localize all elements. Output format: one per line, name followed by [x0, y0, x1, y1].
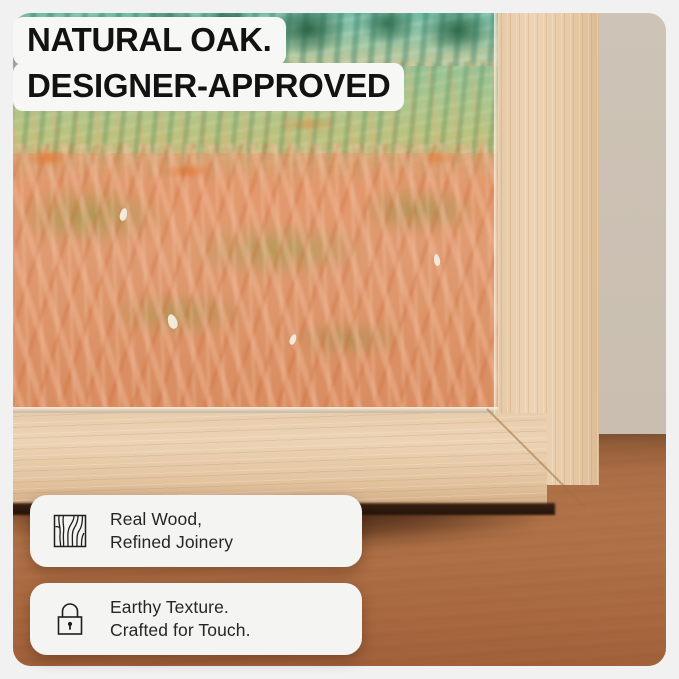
headline-line-2: DESIGNER-APPROVED — [13, 63, 404, 111]
feature-badge-earthy-texture-label: Earthy Texture. Crafted for Touch. — [110, 596, 251, 642]
wood-grain-icon — [48, 509, 92, 553]
product-hero-image: NATURAL OAK. DESIGNER-APPROVED Real Wood… — [0, 0, 679, 679]
lock-icon — [48, 597, 92, 641]
headline: NATURAL OAK. DESIGNER-APPROVED — [13, 17, 404, 111]
feature-badge-real-wood-label: Real Wood, Refined Joinery — [110, 508, 233, 554]
frame-inner-lip-bottom — [13, 407, 549, 412]
headline-line-1: NATURAL OAK. — [13, 17, 286, 65]
painting-orange-accents — [13, 70, 498, 408]
feature-badge-earthy-texture: Earthy Texture. Crafted for Touch. — [30, 583, 362, 655]
feature-badge-list: Real Wood, Refined Joinery Earthy Textur… — [30, 495, 362, 655]
feature-badge-real-wood: Real Wood, Refined Joinery — [30, 495, 362, 567]
